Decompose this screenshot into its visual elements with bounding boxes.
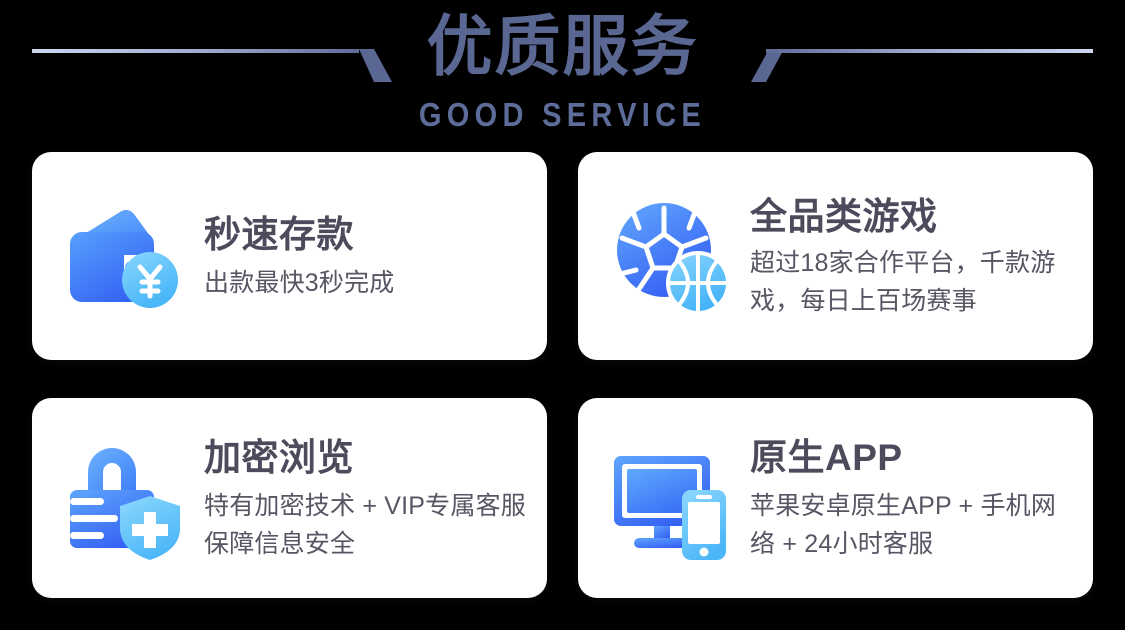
card-text-block: 加密浏览 特有加密技术 + VIP专属客服保障信息安全: [204, 433, 531, 563]
feature-card-encryption[interactable]: 加密浏览 特有加密技术 + VIP专属客服保障信息安全: [32, 398, 547, 598]
feature-card-deposit[interactable]: 秒速存款 出款最快3秒完成: [32, 152, 547, 360]
lock-shield-icon: [62, 434, 190, 562]
feature-card-games[interactable]: 全品类游戏 超过18家合作平台，千款游戏，每日上百场赛事: [578, 152, 1093, 360]
card-text-block: 全品类游戏 超过18家合作平台，千款游戏，每日上百场赛事: [750, 192, 1077, 320]
feature-card-grid: 秒速存款 出款最快3秒完成: [32, 152, 1093, 598]
monitor-phone-icon: [608, 434, 736, 562]
card-description: 超过18家合作平台，千款游戏，每日上百场赛事: [750, 244, 1077, 320]
wallet-yen-icon: [62, 192, 190, 320]
card-text-block: 原生APP 苹果安卓原生APP + 手机网络 + 24小时客服: [750, 433, 1077, 563]
feature-card-native-app[interactable]: 原生APP 苹果安卓原生APP + 手机网络 + 24小时客服: [578, 398, 1093, 598]
card-title: 秒速存款: [204, 212, 531, 258]
page-title: 优质服务: [0, 6, 1125, 86]
soccer-basketball-icon: [608, 192, 736, 320]
card-text-block: 秒速存款 出款最快3秒完成: [204, 210, 531, 302]
page-subtitle: GOOD SERVICE: [68, 96, 1058, 134]
card-description: 特有加密技术 + VIP专属客服保障信息安全: [204, 487, 531, 563]
card-description: 苹果安卓原生APP + 手机网络 + 24小时客服: [750, 487, 1077, 563]
card-title: 全品类游戏: [750, 194, 1077, 240]
card-title: 加密浏览: [204, 435, 531, 481]
card-description: 出款最快3秒完成: [204, 264, 531, 302]
card-title: 原生APP: [750, 435, 1077, 481]
page-header: 优质服务 GOOD SERVICE: [0, 0, 1125, 145]
